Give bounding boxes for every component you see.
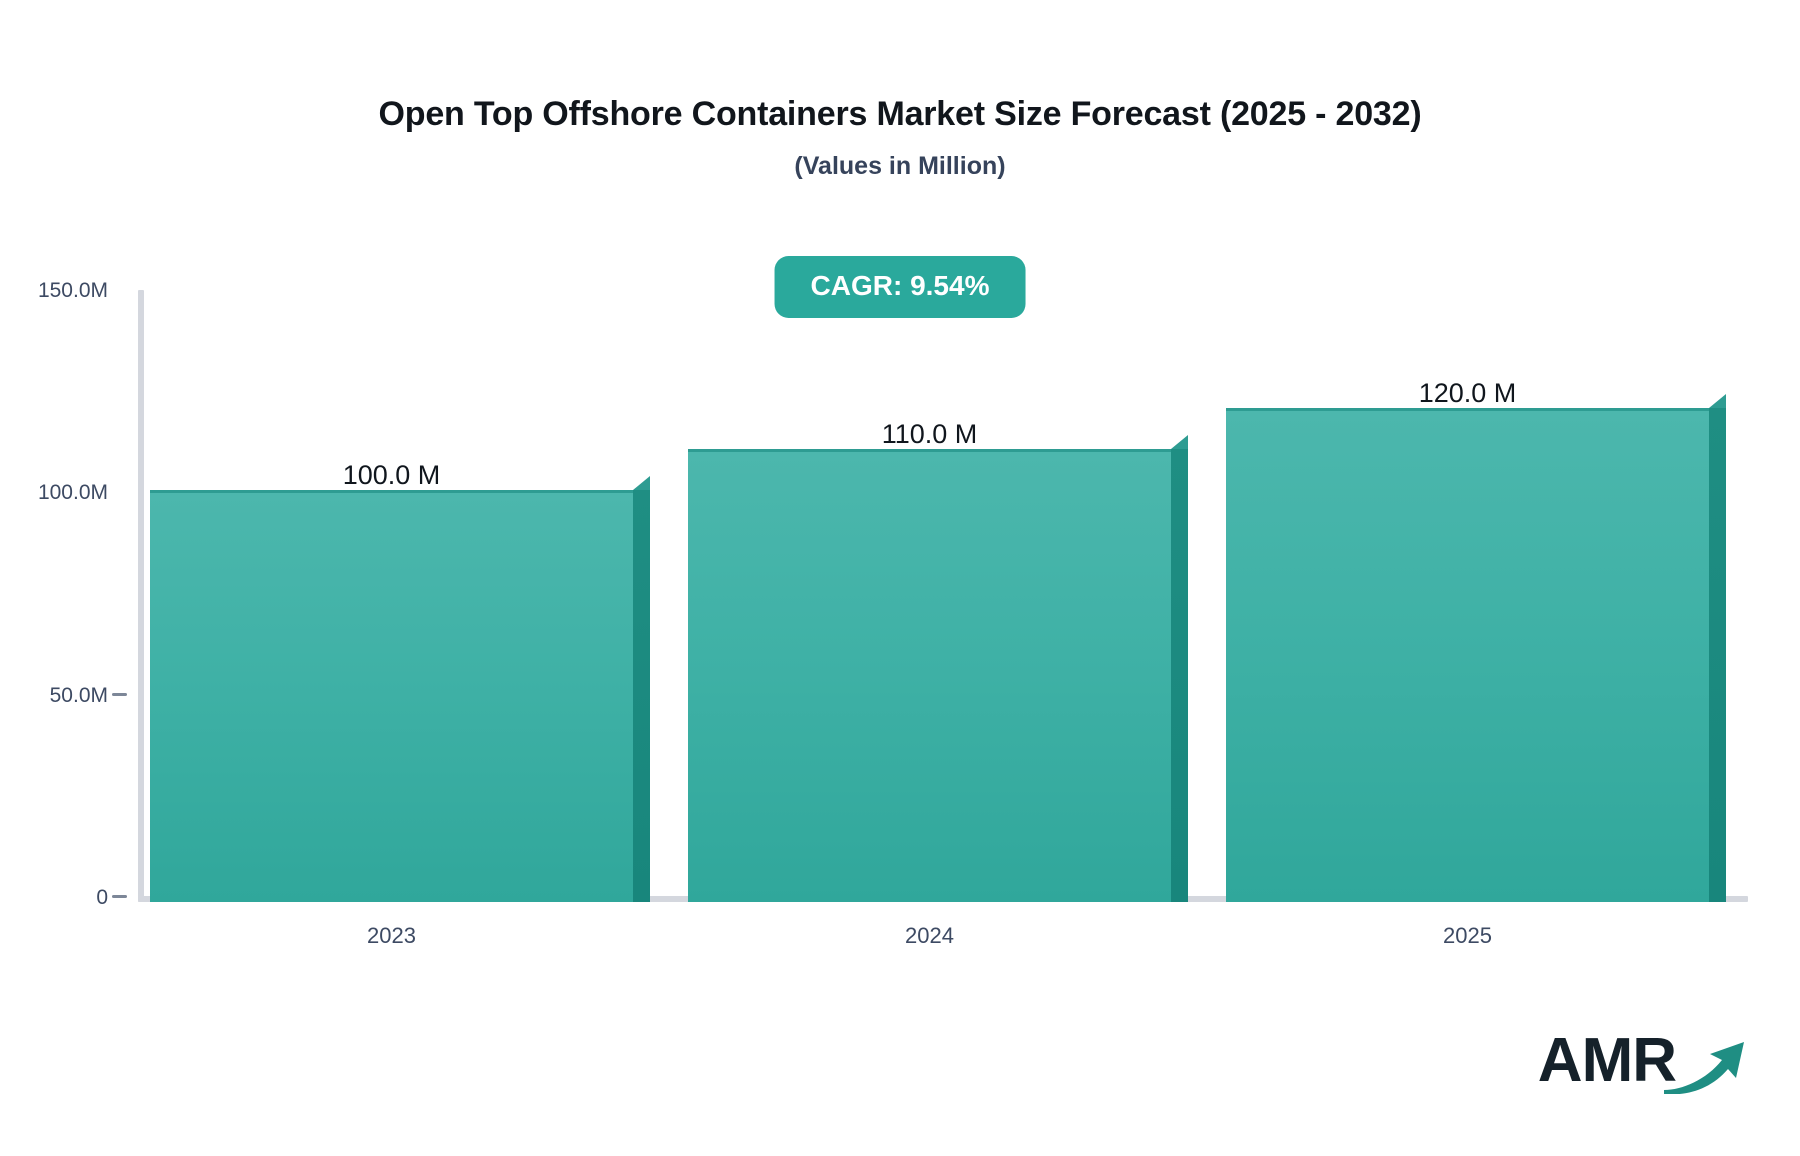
x-label-2023: 2023	[150, 925, 633, 947]
bar-front-face-2023	[150, 490, 633, 902]
bar-side-face-2025	[1709, 408, 1726, 902]
bar-side-face-2023	[633, 490, 650, 902]
amr-logo: AMR	[1538, 1024, 1748, 1098]
x-label-2025: 2025	[1226, 925, 1709, 947]
bar-value-2024: 110.0 M	[688, 421, 1171, 448]
x-label-2024: 2024	[688, 925, 1171, 947]
amr-logo-text: AMR	[1538, 1030, 1676, 1092]
bar-top-face-2024	[1171, 435, 1188, 449]
bar-top-face-2023	[633, 476, 650, 490]
bar-front-face-2025	[1226, 408, 1709, 902]
bar-2023[interactable]	[150, 490, 650, 902]
bar-value-2023: 100.0 M	[150, 462, 633, 489]
bar-side-face-2024	[1171, 449, 1188, 902]
chart-plot-area: 150.0M 100.0M 50.0M 0 100.0 M 2023 110.0…	[0, 0, 1800, 1156]
bar-front-face-2024	[688, 449, 1171, 902]
bar-2025[interactable]	[1226, 408, 1726, 902]
bar-top-face-2025	[1709, 394, 1726, 408]
bar-value-2025: 120.0 M	[1226, 380, 1709, 407]
trending-up-arrow-icon	[1662, 1038, 1748, 1098]
bars-layer: 100.0 M 2023 110.0 M 2024 120.0 M 2025	[0, 0, 1800, 1156]
bar-2024[interactable]	[688, 449, 1188, 902]
